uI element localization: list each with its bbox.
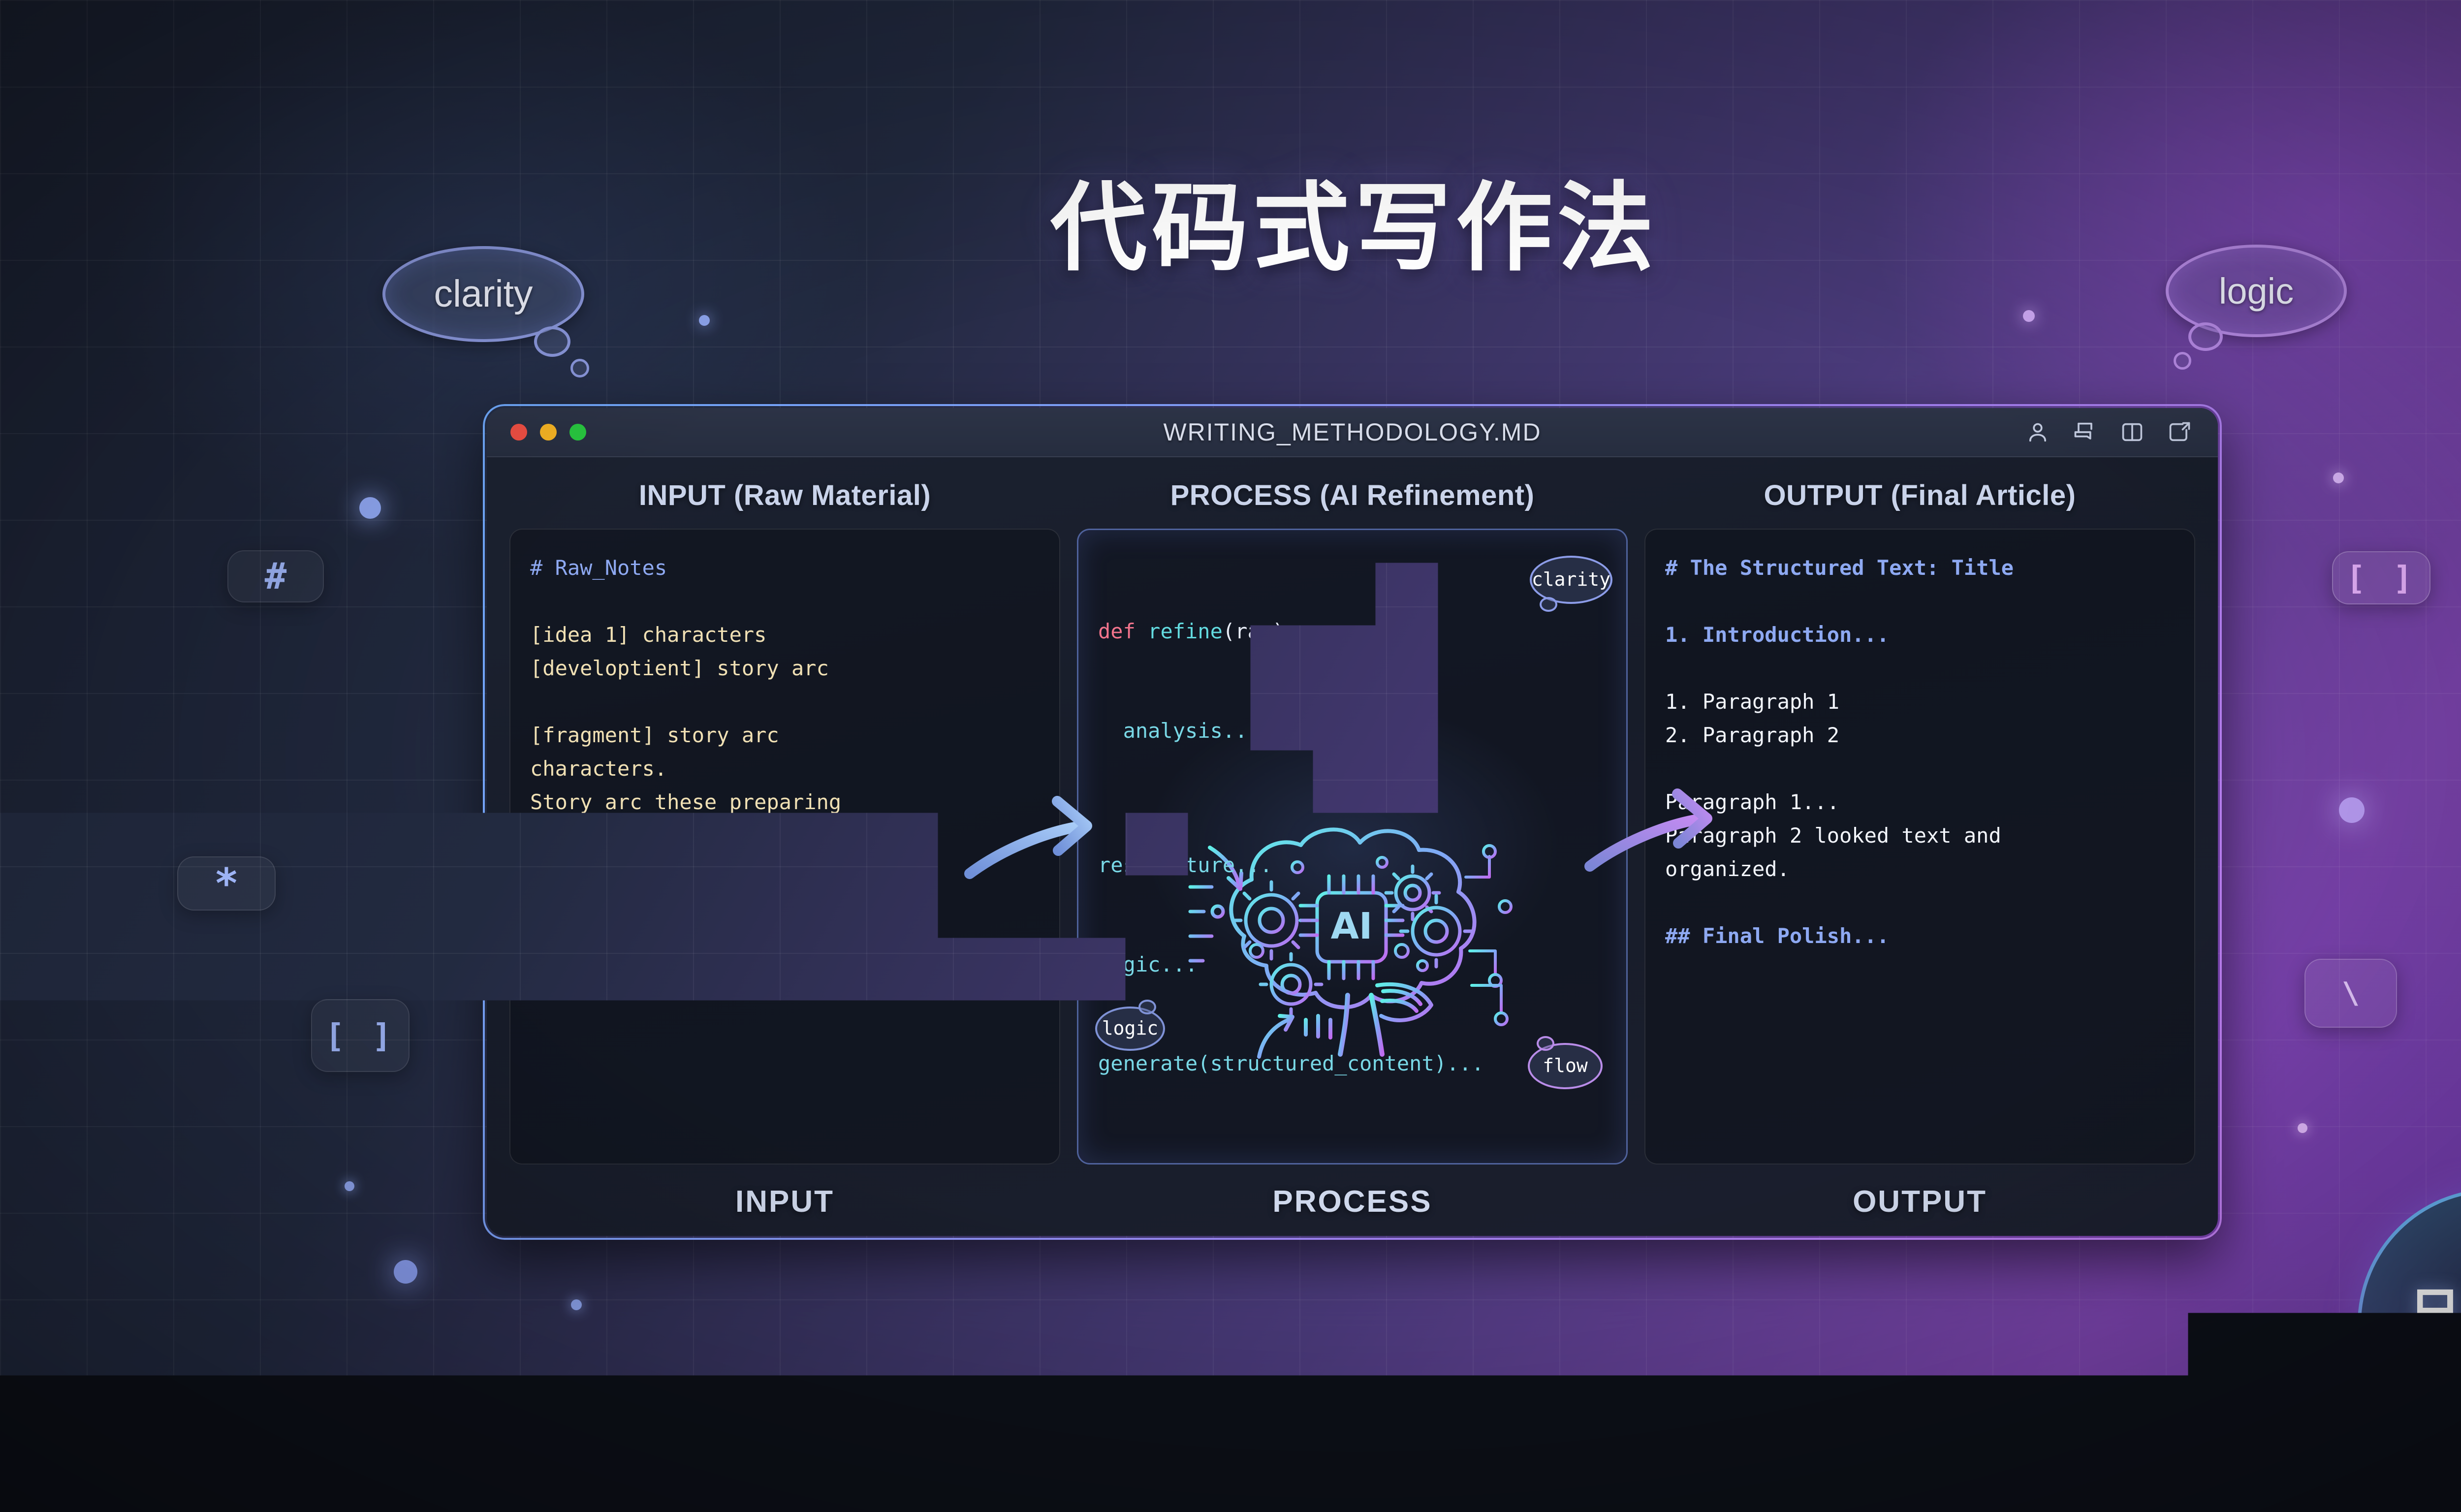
deco-dot — [394, 1260, 417, 1284]
bubble-tail-dot — [2174, 352, 2191, 370]
bubble-label: logic — [2219, 270, 2294, 312]
column-label-input: INPUT — [509, 1165, 1060, 1236]
input-code-line: the answers. — [530, 819, 1040, 852]
output-code-line: Paragraph 1... — [1665, 786, 2175, 819]
mini-bubble-tail — [1537, 1036, 1554, 1051]
code-restructure-line: restructure... — [1098, 849, 1484, 882]
window-toolbar[interactable] — [2025, 419, 2192, 445]
page-title: 代码式写作法 — [0, 180, 2461, 277]
column-input: INPUT (Raw Material) # Raw_Notes [idea 1… — [509, 479, 1060, 1236]
split-panel-icon[interactable] — [2119, 419, 2145, 445]
brackets-symbol-tile-left: [ ] — [311, 999, 410, 1072]
bubble-label: clarity — [434, 272, 533, 316]
window-filename: WRITING_METHODOLOGY.MD — [487, 418, 2218, 446]
mini-bubble-clarity: clarity — [1530, 556, 1612, 604]
keyword-def: def — [1098, 619, 1148, 643]
deco-dot — [2339, 797, 2365, 823]
output-code-line — [1665, 652, 2175, 685]
process-code-block[interactable]: def refine(raw): analysis... — [1077, 529, 1628, 1165]
deco-dot — [2333, 472, 2344, 483]
input-code-line: (notes)... — [530, 852, 1040, 886]
brackets-icon: [ ] — [325, 1017, 395, 1055]
column-header-output: OUTPUT (Final Article) — [1644, 479, 2195, 512]
column-process: PROCESS (AI Refinement) def refine(raw):… — [1077, 479, 1628, 1236]
column-label-output: OUTPUT — [1644, 1165, 2195, 1236]
output-code-line — [1665, 886, 2175, 919]
output-code-block[interactable]: # The Structured Text: Title 1. Introduc… — [1644, 529, 2195, 1165]
mini-bubble-label: clarity — [1532, 565, 1610, 595]
input-code-line: characters. — [530, 752, 1040, 786]
deco-dot — [2298, 1123, 2307, 1133]
process-content: def refine(raw): analysis... — [1078, 530, 1626, 1163]
asterisk-symbol-tile: * — [177, 856, 276, 911]
code-args: (raw): — [1223, 619, 1297, 643]
backslash-symbol-tile: \ — [2304, 959, 2397, 1028]
output-code-line: Paragraph 2 looked text and — [1665, 819, 2175, 852]
poster-canvas: 代码式写作法 clarity logic # * [ ] [ ] \ WRITI… — [0, 0, 2461, 1512]
input-code-line: [developtient] story arc — [530, 652, 1040, 685]
comment-icon[interactable] — [2072, 419, 2098, 445]
output-code-line: organized. — [1665, 852, 2175, 886]
output-code-line: 1. Paragraph 1 — [1665, 685, 2175, 719]
output-code-line: # The Structured Text: Title — [1665, 551, 2175, 585]
code-generate-line: generate(structured_content)... — [1098, 1047, 1484, 1080]
output-code-line — [1665, 752, 2175, 786]
function-name: refine — [1148, 619, 1223, 643]
bubble-tail-dot — [570, 359, 589, 378]
output-code-line: 1. Introduction... — [1665, 618, 2175, 652]
floating-bubble-clarity: clarity — [382, 246, 584, 342]
brand-name-en: Skill Methodology — [2406, 1353, 2461, 1378]
mini-bubble-label: flow — [1543, 1051, 1588, 1081]
input-code-line: # Raw_Notes — [530, 551, 1040, 585]
bubble-tail — [534, 326, 570, 357]
brand-name-cn: 日思录 — [2409, 1270, 2461, 1346]
window-titlebar[interactable]: WRITING_METHODOLOGY.MD — [487, 408, 2218, 457]
share-export-icon[interactable] — [2167, 419, 2192, 445]
bubble-tail — [2188, 322, 2223, 351]
floating-bubble-logic: logic — [2166, 245, 2347, 337]
mini-bubble-flow: flow — [1528, 1043, 1603, 1089]
code-logic-line: logic... — [1098, 948, 1484, 981]
brand-badge: 日思录 Skill Methodology — [2358, 1189, 2461, 1459]
deco-dot — [699, 315, 710, 326]
output-code-line — [1665, 585, 2175, 618]
user-icon[interactable] — [2025, 419, 2051, 445]
output-code-line: ## Final Polish... — [1665, 919, 2175, 953]
backslash-icon: \ — [2342, 976, 2360, 1010]
input-code-block[interactable]: # Raw_Notes [idea 1] characters[developt… — [509, 529, 1060, 1165]
hash-symbol-tile: # — [227, 550, 324, 602]
input-code-line: [idea 1] characters — [530, 618, 1040, 652]
asterisk-icon: * — [214, 859, 239, 908]
deco-dot — [359, 497, 381, 519]
editor-window: WRITING_METHODOLOGY.MD — [485, 406, 2220, 1238]
brackets-symbol-tile-right: [ ] — [2332, 551, 2430, 604]
column-header-process: PROCESS (AI Refinement) — [1077, 479, 1628, 512]
deco-dot — [345, 1181, 354, 1191]
process-code-bottom: restructure... logic... generate(structu… — [1098, 783, 1484, 1146]
input-code-line — [530, 685, 1040, 719]
brackets-icon: [ ] — [2346, 559, 2416, 597]
input-code-line: Story arc these preparing — [530, 786, 1040, 819]
column-output: OUTPUT (Final Article) # The Structured … — [1644, 479, 2195, 1236]
hash-icon: # — [265, 555, 287, 598]
input-code-line: [fragment] story arc — [530, 719, 1040, 752]
mini-bubble-tail — [1540, 597, 1557, 612]
deco-dot — [571, 1299, 582, 1310]
input-code-line — [530, 585, 1040, 618]
column-header-input: INPUT (Raw Material) — [509, 479, 1060, 512]
output-code-line: 2. Paragraph 2 — [1665, 719, 2175, 752]
column-label-process: PROCESS — [1077, 1165, 1628, 1236]
three-column-layout: INPUT (Raw Material) # Raw_Notes [idea 1… — [487, 457, 2218, 1236]
deco-dot — [2023, 310, 2035, 322]
